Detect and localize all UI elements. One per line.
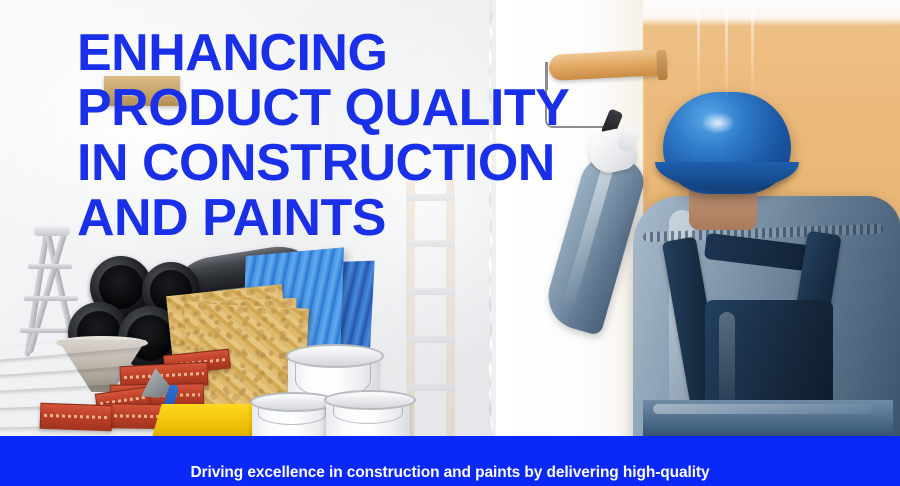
- worker-waist-highlight: [653, 404, 873, 414]
- paint-can-lid: [324, 390, 416, 410]
- hard-hat-ridge: [751, 8, 754, 96]
- tagline-text: Driving excellence in construction and p…: [0, 464, 900, 482]
- paint-roller-cap: [656, 50, 668, 80]
- wall-top-highlight: [613, 0, 900, 26]
- bottom-tagline-bar: Driving excellence in construction and p…: [0, 436, 900, 486]
- promotional-banner: ENHANCING PRODUCT QUALITY IN CONSTRUCTIO…: [0, 0, 900, 486]
- hard-hat-gloss: [701, 112, 735, 134]
- page-title: ENHANCING PRODUCT QUALITY IN CONSTRUCTIO…: [77, 26, 569, 246]
- red-brick: [40, 403, 113, 431]
- hard-hat-ridge: [725, 8, 728, 96]
- paint-can-lid: [286, 344, 384, 368]
- hard-hat-ridge: [697, 8, 700, 96]
